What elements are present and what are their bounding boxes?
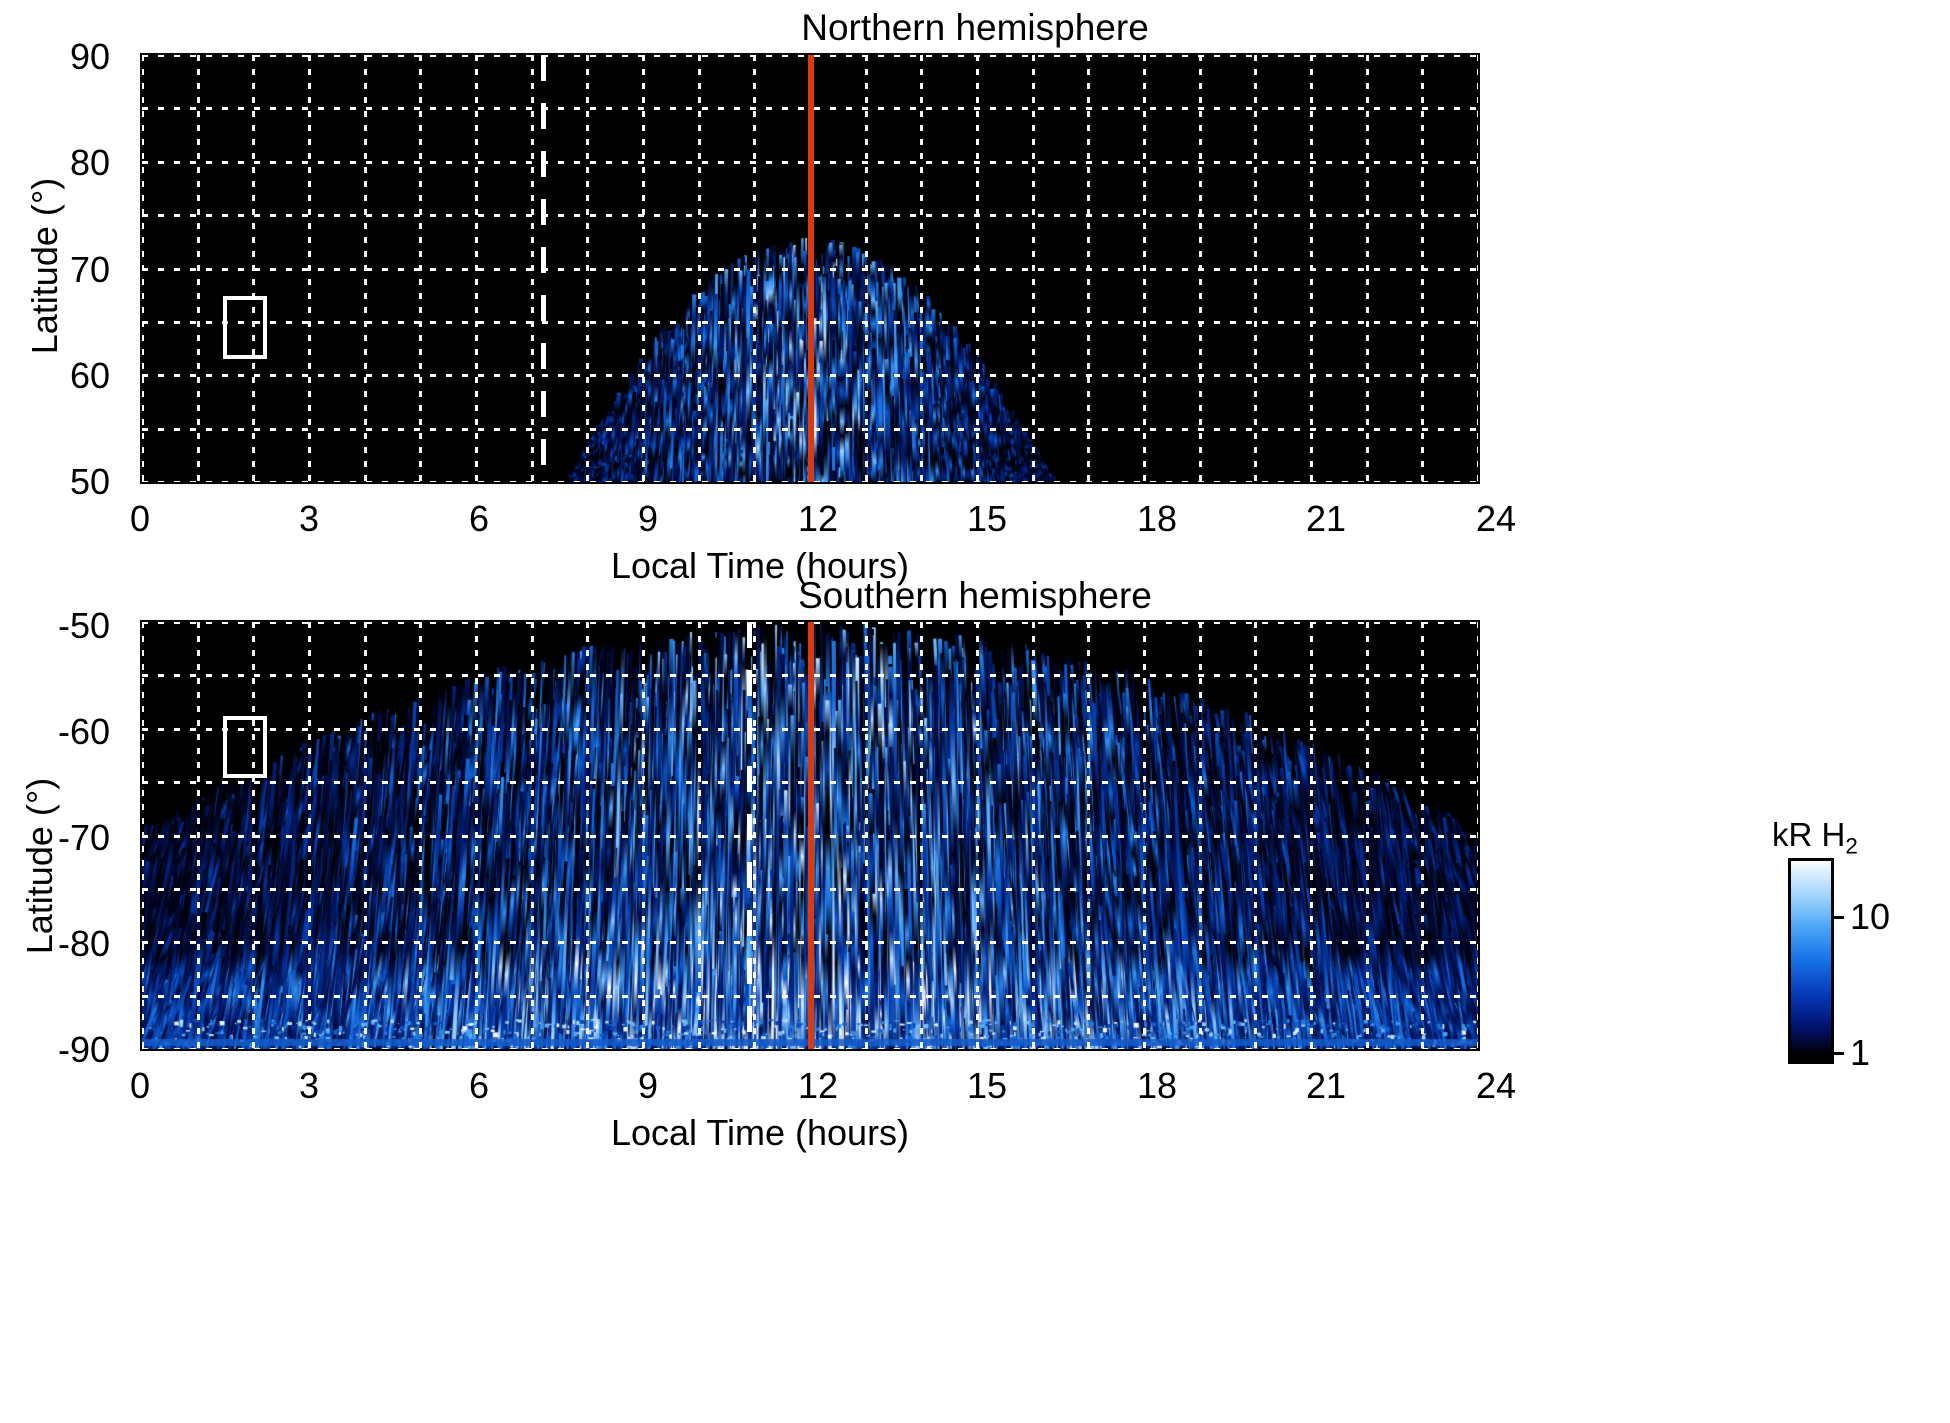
xtick-major bbox=[976, 482, 979, 484]
xtick-major bbox=[308, 1049, 311, 1051]
ytick-major bbox=[1478, 54, 1480, 57]
xtick-minor bbox=[364, 1049, 367, 1051]
ytick-minor bbox=[140, 139, 142, 142]
xtick-minor bbox=[1421, 1049, 1424, 1051]
ytick-major bbox=[1478, 728, 1480, 731]
ytick-minor bbox=[140, 310, 142, 313]
ytick-major bbox=[140, 374, 142, 377]
xtick-minor bbox=[1032, 1049, 1035, 1051]
xtick-minor bbox=[698, 482, 701, 484]
ytick-minor bbox=[140, 899, 142, 902]
xtick-major bbox=[1310, 620, 1313, 622]
figure-root: Northern hemisphere Latitude (°) 90 80 7… bbox=[0, 0, 1950, 1423]
xtick-minor bbox=[753, 620, 756, 622]
ytick-minor bbox=[1478, 396, 1480, 399]
ytick-label-80: 80 bbox=[0, 142, 110, 184]
ytick-minor bbox=[140, 97, 142, 100]
xtick-minor bbox=[1032, 53, 1035, 55]
ytick-minor bbox=[140, 75, 142, 78]
xtick-label-0: 0 bbox=[110, 498, 170, 540]
ytick-minor bbox=[1478, 97, 1480, 100]
ytick-minor bbox=[1478, 1027, 1480, 1030]
xtick-minor bbox=[197, 1049, 200, 1051]
xtick-label-9: 9 bbox=[618, 498, 678, 540]
xtick-minor bbox=[252, 1049, 255, 1051]
ytick-minor bbox=[1478, 1005, 1480, 1008]
colorbar-tick-10 bbox=[1834, 916, 1844, 919]
ytick-minor bbox=[1478, 460, 1480, 463]
xtick-minor bbox=[586, 482, 589, 484]
ytick-label-50: 50 bbox=[0, 461, 110, 503]
xtick-major bbox=[1477, 620, 1480, 622]
xtick-major bbox=[308, 53, 311, 55]
xtick-minor bbox=[1254, 53, 1257, 55]
xtick-major bbox=[1143, 620, 1146, 622]
xtick-label-s9: 9 bbox=[618, 1065, 678, 1107]
xtick-label-s15: 15 bbox=[957, 1065, 1017, 1107]
xtick-minor bbox=[1199, 53, 1202, 55]
xtick-minor bbox=[1254, 1049, 1257, 1051]
xtick-major bbox=[809, 482, 812, 484]
ytick-major bbox=[140, 161, 142, 164]
ytick-minor bbox=[1478, 642, 1480, 645]
xtick-label-s6: 6 bbox=[449, 1065, 509, 1107]
ytick-minor bbox=[140, 1005, 142, 1008]
xtick-major bbox=[141, 482, 144, 484]
xtick-minor bbox=[586, 620, 589, 622]
xtick-minor bbox=[364, 53, 367, 55]
plot-area-southern[interactable] bbox=[140, 620, 1480, 1051]
xtick-minor bbox=[531, 53, 534, 55]
xtick-minor bbox=[364, 482, 367, 484]
xtick-minor bbox=[920, 482, 923, 484]
xtick-major bbox=[141, 53, 144, 55]
xtick-minor bbox=[920, 53, 923, 55]
xtick-major bbox=[1477, 482, 1480, 484]
xtick-major bbox=[642, 482, 645, 484]
roi-box bbox=[223, 296, 268, 359]
xtick-minor bbox=[1421, 53, 1424, 55]
ytick-minor bbox=[1478, 984, 1480, 987]
xtick-minor bbox=[419, 482, 422, 484]
ytick-minor bbox=[140, 664, 142, 667]
ytick-minor bbox=[140, 246, 142, 249]
xtick-major bbox=[475, 53, 478, 55]
xtick-minor bbox=[753, 482, 756, 484]
xtick-label-12: 12 bbox=[788, 498, 848, 540]
colorbar-gradient-box[interactable] bbox=[1788, 858, 1834, 1064]
ytick-minor bbox=[1478, 685, 1480, 688]
ytick-minor bbox=[140, 332, 142, 335]
xtick-minor bbox=[1366, 620, 1369, 622]
ytick-minor bbox=[140, 118, 142, 121]
colorbar-title-text: kR H bbox=[1772, 816, 1845, 853]
xtick-label-s12: 12 bbox=[788, 1065, 848, 1107]
xtick-minor bbox=[1366, 53, 1369, 55]
ytick-major bbox=[1478, 268, 1480, 271]
xtick-minor bbox=[920, 1049, 923, 1051]
xtick-label-s24: 24 bbox=[1466, 1065, 1526, 1107]
ytick-label-neg70: -70 bbox=[0, 817, 110, 859]
ytick-minor bbox=[140, 289, 142, 292]
ytick-major bbox=[1478, 621, 1480, 624]
xtick-major bbox=[642, 1049, 645, 1051]
xtick-minor bbox=[753, 1049, 756, 1051]
xtick-minor bbox=[1032, 482, 1035, 484]
xtick-minor bbox=[252, 482, 255, 484]
xtick-major bbox=[1310, 53, 1313, 55]
xtick-minor bbox=[197, 620, 200, 622]
panel-southern-title: Southern hemisphere bbox=[0, 574, 1950, 618]
ytick-minor bbox=[140, 460, 142, 463]
ytick-minor bbox=[140, 396, 142, 399]
xtick-label-24: 24 bbox=[1466, 498, 1526, 540]
plot-area-northern[interactable] bbox=[140, 53, 1480, 484]
ytick-minor bbox=[140, 706, 142, 709]
ytick-minor bbox=[1478, 353, 1480, 356]
ytick-minor bbox=[140, 438, 142, 441]
ytick-minor bbox=[1478, 182, 1480, 185]
panel-northern: Northern hemisphere Latitude (°) 90 80 7… bbox=[0, 0, 1950, 570]
colorbar[interactable]: kR H2 10 1 bbox=[1780, 830, 1950, 1070]
colorbar-title: kR H2 bbox=[1772, 816, 1858, 860]
xtick-minor bbox=[1087, 620, 1090, 622]
xtick-major bbox=[976, 1049, 979, 1051]
ytick-minor bbox=[1478, 899, 1480, 902]
xtick-major bbox=[308, 620, 311, 622]
xtick-major bbox=[642, 53, 645, 55]
ytick-minor bbox=[1478, 139, 1480, 142]
ytick-minor bbox=[1478, 792, 1480, 795]
colorbar-tick-label-10: 10 bbox=[1850, 896, 1890, 938]
xtick-minor bbox=[865, 482, 868, 484]
xtick-major bbox=[475, 1049, 478, 1051]
ytick-minor bbox=[140, 920, 142, 923]
xtick-minor bbox=[698, 1049, 701, 1051]
xtick-label-18: 18 bbox=[1127, 498, 1187, 540]
xtick-minor bbox=[698, 53, 701, 55]
ytick-minor bbox=[1478, 203, 1480, 206]
ytick-minor bbox=[1478, 417, 1480, 420]
xtick-minor bbox=[1199, 482, 1202, 484]
xtick-major bbox=[1477, 53, 1480, 55]
xtick-minor bbox=[865, 1049, 868, 1051]
xtick-minor bbox=[1087, 1049, 1090, 1051]
ytick-major bbox=[1478, 374, 1480, 377]
ytick-minor bbox=[140, 225, 142, 228]
xtick-label-6: 6 bbox=[449, 498, 509, 540]
ytick-major bbox=[1478, 835, 1480, 838]
xtick-minor bbox=[252, 53, 255, 55]
ytick-minor bbox=[1478, 813, 1480, 816]
ytick-minor bbox=[140, 353, 142, 356]
xtick-minor bbox=[1421, 620, 1424, 622]
ytick-minor bbox=[1478, 749, 1480, 752]
xtick-minor bbox=[865, 53, 868, 55]
xtick-minor bbox=[531, 1049, 534, 1051]
xtick-minor bbox=[364, 620, 367, 622]
xtick-major bbox=[809, 620, 812, 622]
xtick-major bbox=[809, 53, 812, 55]
xtick-minor bbox=[197, 482, 200, 484]
xtick-major bbox=[1310, 1049, 1313, 1051]
xtick-minor bbox=[1087, 53, 1090, 55]
ytick-minor bbox=[140, 203, 142, 206]
ytick-minor bbox=[1478, 706, 1480, 709]
xtick-major bbox=[1143, 1049, 1146, 1051]
ytick-major bbox=[1478, 481, 1480, 484]
ytick-label-neg90: -90 bbox=[0, 1029, 110, 1071]
xtick-major bbox=[976, 620, 979, 622]
xtick-minor bbox=[1032, 620, 1035, 622]
ytick-minor bbox=[1478, 438, 1480, 441]
ytick-minor bbox=[140, 792, 142, 795]
xtick-minor bbox=[586, 1049, 589, 1051]
colorbar-tick-1 bbox=[1834, 1052, 1844, 1055]
ytick-minor bbox=[140, 770, 142, 773]
ytick-minor bbox=[1478, 75, 1480, 78]
xtick-label-3: 3 bbox=[279, 498, 339, 540]
xtick-minor bbox=[1421, 482, 1424, 484]
xtick-minor bbox=[531, 482, 534, 484]
ytick-major bbox=[1478, 161, 1480, 164]
xtick-minor bbox=[586, 53, 589, 55]
panel-northern-title: Northern hemisphere bbox=[0, 6, 1950, 50]
ytick-minor bbox=[140, 877, 142, 880]
xtick-major bbox=[642, 620, 645, 622]
xtick-major bbox=[475, 482, 478, 484]
xtick-minor bbox=[698, 620, 701, 622]
xtick-minor bbox=[419, 53, 422, 55]
ytick-minor bbox=[1478, 856, 1480, 859]
xtick-minor bbox=[865, 620, 868, 622]
xtick-major bbox=[141, 1049, 144, 1051]
xtick-minor bbox=[753, 53, 756, 55]
ytick-minor bbox=[1478, 246, 1480, 249]
ytick-label-60: 60 bbox=[0, 355, 110, 397]
ytick-label-90: 90 bbox=[0, 36, 110, 78]
ytick-minor bbox=[1478, 877, 1480, 880]
xtick-label-s18: 18 bbox=[1127, 1065, 1187, 1107]
xtick-minor bbox=[419, 620, 422, 622]
ytick-minor bbox=[1478, 664, 1480, 667]
ytick-label-neg80: -80 bbox=[0, 923, 110, 965]
xtick-label-21: 21 bbox=[1296, 498, 1356, 540]
ytick-minor bbox=[140, 813, 142, 816]
xtick-label-s0: 0 bbox=[110, 1065, 170, 1107]
ytick-minor bbox=[140, 856, 142, 859]
xtick-label-s3: 3 bbox=[279, 1065, 339, 1107]
xtick-major bbox=[1143, 482, 1146, 484]
xtick-label-s21: 21 bbox=[1296, 1065, 1356, 1107]
ytick-minor bbox=[140, 984, 142, 987]
terminator-line bbox=[747, 622, 752, 1049]
panel-southern: Southern hemisphere Latitude (°) -50 -60… bbox=[0, 570, 1950, 1423]
ytick-minor bbox=[1478, 289, 1480, 292]
xtick-label-15: 15 bbox=[957, 498, 1017, 540]
ytick-major bbox=[140, 941, 142, 944]
xtick-major bbox=[308, 482, 311, 484]
xtick-major bbox=[1310, 482, 1313, 484]
ytick-label-neg60: -60 bbox=[0, 711, 110, 753]
panel-southern-xlabel: Local Time (hours) bbox=[410, 1112, 1110, 1154]
xtick-minor bbox=[197, 53, 200, 55]
ytick-minor bbox=[1478, 963, 1480, 966]
xtick-major bbox=[1143, 53, 1146, 55]
ytick-minor bbox=[140, 1027, 142, 1030]
xtick-minor bbox=[252, 620, 255, 622]
noon-line bbox=[808, 622, 814, 1049]
ytick-minor bbox=[140, 642, 142, 645]
ytick-minor bbox=[1478, 225, 1480, 228]
xtick-minor bbox=[1366, 1049, 1369, 1051]
ytick-minor bbox=[1478, 332, 1480, 335]
ytick-minor bbox=[140, 963, 142, 966]
ytick-minor bbox=[140, 417, 142, 420]
ytick-minor bbox=[1478, 310, 1480, 313]
ytick-major bbox=[140, 728, 142, 731]
xtick-minor bbox=[1199, 620, 1202, 622]
xtick-minor bbox=[920, 620, 923, 622]
xtick-minor bbox=[1366, 482, 1369, 484]
ytick-minor bbox=[140, 749, 142, 752]
xtick-major bbox=[976, 53, 979, 55]
ytick-minor bbox=[140, 685, 142, 688]
ytick-minor bbox=[1478, 920, 1480, 923]
ytick-minor bbox=[140, 182, 142, 185]
terminator-line bbox=[541, 55, 546, 482]
colorbar-tick-label-1: 1 bbox=[1850, 1032, 1870, 1074]
roi-box bbox=[223, 716, 268, 778]
ytick-label-70: 70 bbox=[0, 249, 110, 291]
xtick-major bbox=[1477, 1049, 1480, 1051]
xtick-minor bbox=[1254, 482, 1257, 484]
colorbar-gradient bbox=[1791, 861, 1831, 1061]
xtick-major bbox=[475, 620, 478, 622]
xtick-major bbox=[141, 620, 144, 622]
ytick-minor bbox=[1478, 770, 1480, 773]
xtick-major bbox=[809, 1049, 812, 1051]
ytick-major bbox=[1478, 1048, 1480, 1051]
colorbar-title-subscript: 2 bbox=[1845, 834, 1857, 859]
ytick-major bbox=[1478, 941, 1480, 944]
ytick-major bbox=[140, 835, 142, 838]
ytick-major bbox=[140, 268, 142, 271]
xtick-minor bbox=[1199, 1049, 1202, 1051]
ytick-minor bbox=[1478, 118, 1480, 121]
xtick-minor bbox=[1087, 482, 1090, 484]
noon-line bbox=[808, 55, 814, 482]
xtick-minor bbox=[531, 620, 534, 622]
ytick-label-neg50: -50 bbox=[0, 605, 110, 647]
xtick-minor bbox=[419, 1049, 422, 1051]
xtick-minor bbox=[1254, 620, 1257, 622]
